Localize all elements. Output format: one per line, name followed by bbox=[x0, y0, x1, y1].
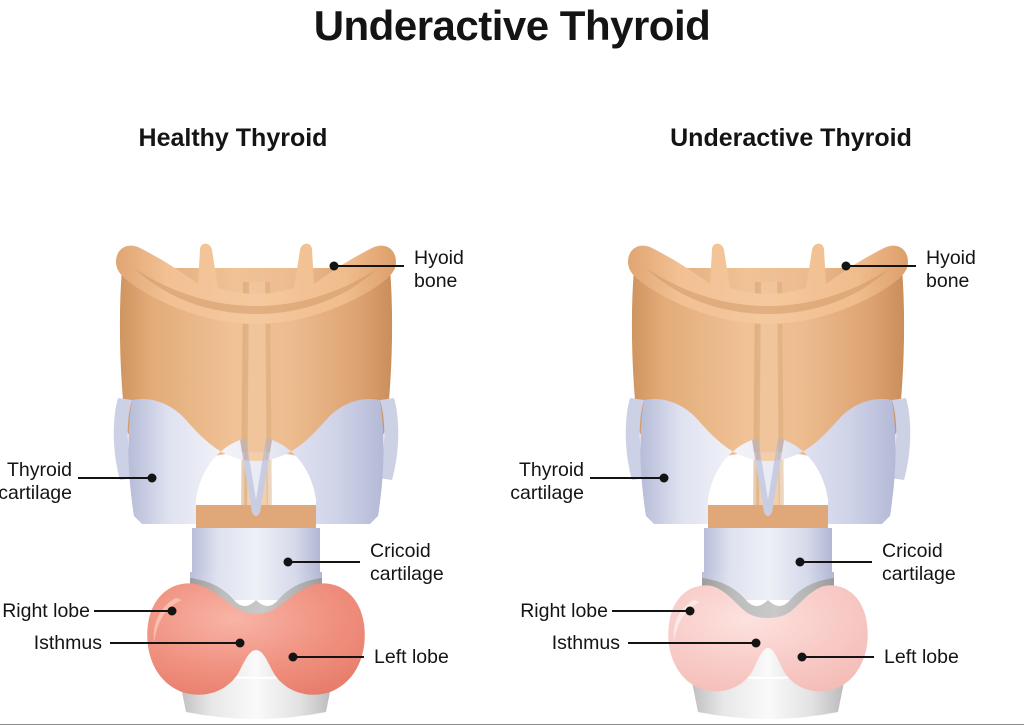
label-thyroid-cartilage-line1: Thyroid bbox=[0, 459, 72, 482]
anchor-dot-thyroid-cartilage bbox=[660, 474, 669, 483]
figure-underactive-thyroid: Hyoid bone Thyroid cartilage Cricoid car… bbox=[512, 0, 1024, 725]
label-cricoid-cartilage: Cricoid cartilage bbox=[882, 540, 956, 585]
anchor-dot-right-lobe bbox=[686, 607, 695, 616]
anchor-dot-cricoid-cartilage bbox=[796, 558, 805, 567]
label-thyroid-cartilage-line2: cartilage bbox=[0, 482, 72, 505]
label-cricoid-cartilage-line1: Cricoid bbox=[882, 540, 956, 563]
label-cricoid-cartilage-line1: Cricoid bbox=[370, 540, 444, 563]
label-right-lobe: Right lobe bbox=[508, 600, 608, 623]
label-hyoid-bone-line1: Hyoid bbox=[926, 247, 976, 270]
label-left-lobe: Left lobe bbox=[884, 646, 959, 669]
label-cricoid-cartilage-line2: cartilage bbox=[370, 563, 444, 586]
cricoid-cartilage bbox=[192, 528, 320, 576]
label-left-lobe: Left lobe bbox=[374, 646, 449, 669]
anchor-dot-isthmus bbox=[236, 639, 245, 648]
label-hyoid-bone-line2: bone bbox=[926, 270, 976, 293]
anchor-dot-right-lobe bbox=[168, 607, 177, 616]
label-thyroid-cartilage: Thyroid cartilage bbox=[498, 459, 584, 504]
label-thyroid-cartilage: Thyroid cartilage bbox=[0, 459, 72, 504]
anchor-dot-left-lobe bbox=[798, 653, 807, 662]
label-isthmus: Isthmus bbox=[528, 632, 620, 655]
label-hyoid-bone-line1: Hyoid bbox=[414, 247, 464, 270]
anchor-dot-left-lobe bbox=[289, 653, 298, 662]
label-hyoid-bone: Hyoid bone bbox=[414, 247, 464, 292]
label-hyoid-bone-line2: bone bbox=[414, 270, 464, 293]
label-cricoid-cartilage-line2: cartilage bbox=[882, 563, 956, 586]
label-hyoid-bone: Hyoid bone bbox=[926, 247, 976, 292]
anchor-dot-isthmus bbox=[752, 639, 761, 648]
anchor-dot-hyoid-bone bbox=[842, 262, 851, 271]
label-isthmus: Isthmus bbox=[10, 632, 102, 655]
anchor-dot-thyroid-cartilage bbox=[148, 474, 157, 483]
anchor-dot-hyoid-bone bbox=[330, 262, 339, 271]
figure-healthy-thyroid: Hyoid bone Thyroid cartilage Cricoid car… bbox=[0, 0, 512, 725]
label-right-lobe: Right lobe bbox=[0, 600, 90, 623]
anchor-dot-cricoid-cartilage bbox=[284, 558, 293, 567]
label-thyroid-cartilage-line2: cartilage bbox=[498, 482, 584, 505]
label-thyroid-cartilage-line1: Thyroid bbox=[498, 459, 584, 482]
cricoid-cartilage bbox=[704, 528, 832, 576]
label-cricoid-cartilage: Cricoid cartilage bbox=[370, 540, 444, 585]
